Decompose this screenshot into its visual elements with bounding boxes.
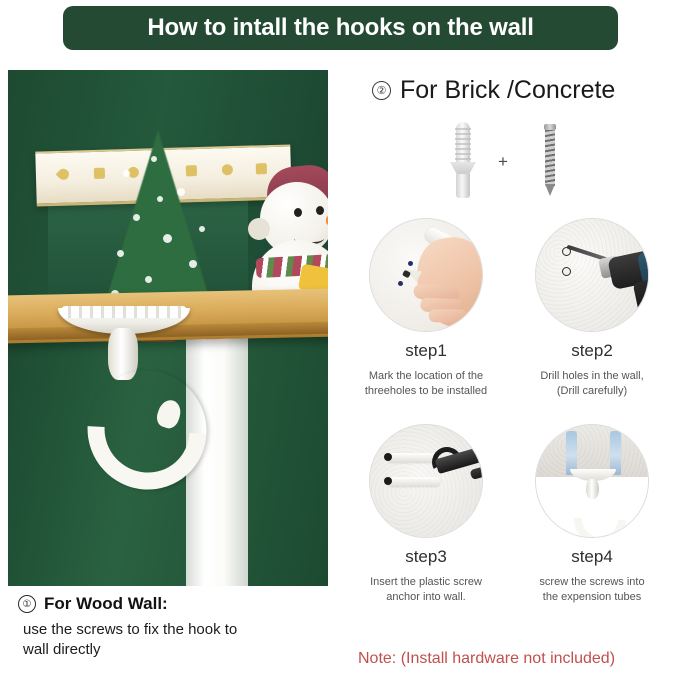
hardware-illustration-row: + bbox=[430, 122, 570, 198]
step-cell-4: step4 screw the screws into the expensio… bbox=[512, 424, 672, 605]
step-caption-4: screw the screws into the expension tube… bbox=[512, 575, 672, 605]
section-number-2: ② bbox=[372, 81, 391, 100]
step-label-3: step3 bbox=[346, 547, 506, 567]
mounted-hook-illustration bbox=[535, 424, 649, 538]
step-caption-1: Mark the location of the threeholes to b… bbox=[346, 369, 506, 399]
step-caption-2: Drill holes in the wall, (Drill carefull… bbox=[512, 369, 672, 399]
wood-wall-section: ① For Wood Wall: use the screws to fix t… bbox=[18, 594, 330, 661]
install-note: Note: (Install hardware not included) bbox=[358, 650, 615, 668]
pencil-marking-wall-illustration bbox=[369, 218, 483, 332]
step-cell-3: step3 Insert the plastic screw anchor in… bbox=[346, 424, 506, 605]
step-label-1: step1 bbox=[346, 341, 506, 361]
hook-plate-scallop-trim bbox=[60, 306, 188, 318]
hammer-anchor-illustration bbox=[369, 424, 483, 538]
snowman-nose bbox=[326, 216, 328, 225]
plastic-wall-anchor-icon bbox=[450, 122, 476, 198]
screw-icon bbox=[542, 124, 558, 196]
wood-section-description: use the screws to fix the hook to wall d… bbox=[23, 620, 330, 661]
wood-section-title: For Wood Wall: bbox=[44, 594, 168, 614]
step-caption-3: Insert the plastic screw anchor into wal… bbox=[346, 575, 506, 605]
step-label-4: step4 bbox=[512, 547, 672, 567]
page-title: How to intall the hooks on the wall bbox=[147, 14, 533, 42]
brick-section-heading: ② For Brick /Concrete bbox=[372, 76, 615, 105]
section-number-1: ① bbox=[18, 595, 36, 613]
step-cell-1: step1 Mark the location of the threehole… bbox=[346, 218, 506, 399]
wood-section-heading: ① For Wood Wall: bbox=[18, 594, 330, 614]
page-title-banner: How to intall the hooks on the wall bbox=[63, 6, 618, 50]
step-label-2: step2 bbox=[512, 341, 672, 361]
christmas-tree bbox=[93, 130, 223, 316]
step-cell-2: step2 Drill holes in the wall, (Drill ca… bbox=[512, 218, 672, 399]
brick-section-title: For Brick /Concrete bbox=[400, 76, 615, 105]
product-photo-hook-on-shelf bbox=[8, 70, 328, 586]
drill-holes-illustration bbox=[535, 218, 649, 332]
snowman-hat-pompom bbox=[248, 218, 270, 240]
plus-symbol: + bbox=[498, 152, 508, 172]
